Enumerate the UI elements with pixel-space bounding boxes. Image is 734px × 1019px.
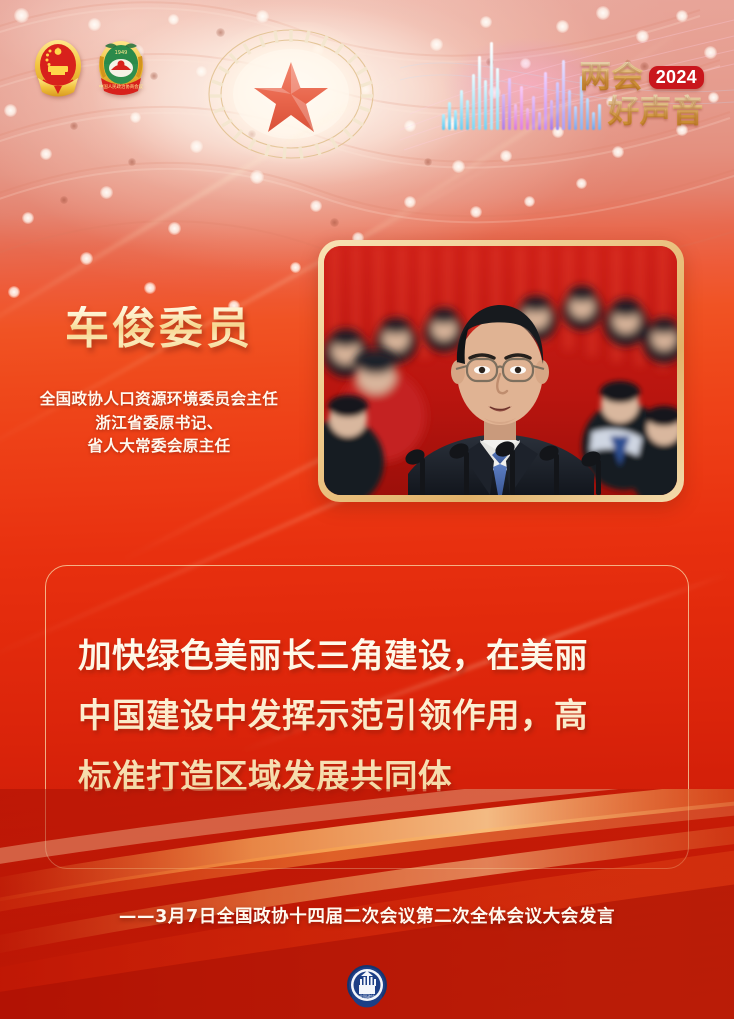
emblem-group: 1949 中国人民政治协商会议 [30, 36, 147, 106]
svg-text:1949: 1949 [115, 50, 128, 56]
brand-row-bottom: 好声音 [544, 97, 704, 128]
brand-lockup: 两会 2024 好声音 [544, 62, 704, 128]
speaker-name: 车俊委员 [0, 306, 318, 352]
brand-year-badge: 2024 [649, 66, 704, 89]
great-hall-of-the-people-roundel-icon: 全国政协 [341, 961, 393, 1011]
national-emblem-of-china-icon [30, 36, 86, 106]
speaker-title-line-2: 浙江省委原书记、 [0, 412, 318, 436]
brand-row-top: 两会 2024 [544, 62, 704, 93]
quote-line-1: 加快绿色美丽长三角建设，在美丽 [78, 626, 664, 686]
speaker-photo [324, 246, 677, 495]
speaker-title-line-1: 全国政协人口资源环境委员会主任 [0, 388, 318, 412]
footer-caption: ——3月7日全国政协十四届二次会议第二次全体会议大会发言 [0, 903, 734, 928]
brand-title-line2: 好声音 [608, 94, 704, 130]
speaker-title-line-3: 省人大常委会原主任 [0, 435, 318, 459]
portrait-frame [318, 240, 684, 502]
ceiling-star-medallion-icon [196, 22, 386, 172]
brand-title-line1: 两会 [580, 62, 644, 93]
svg-text:中国人民政治协商会议: 中国人民政治协商会议 [99, 83, 144, 90]
poster-root: 1949 中国人民政治协商会议 两会 2024 好声音 车俊委员 [0, 0, 734, 1019]
quote-line-2: 中国建设中发挥示范引领作用，高 [78, 686, 664, 746]
quote-text: 加快绿色美丽长三角建设，在美丽 中国建设中发挥示范引领作用，高 标准打造区域发展… [78, 626, 664, 807]
speaker-titles: 全国政协人口资源环境委员会主任 浙江省委原书记、 省人大常委会原主任 [0, 388, 318, 459]
svg-text:全国政协: 全国政协 [359, 993, 375, 999]
cppcc-emblem-icon: 1949 中国人民政治协商会议 [95, 36, 147, 104]
